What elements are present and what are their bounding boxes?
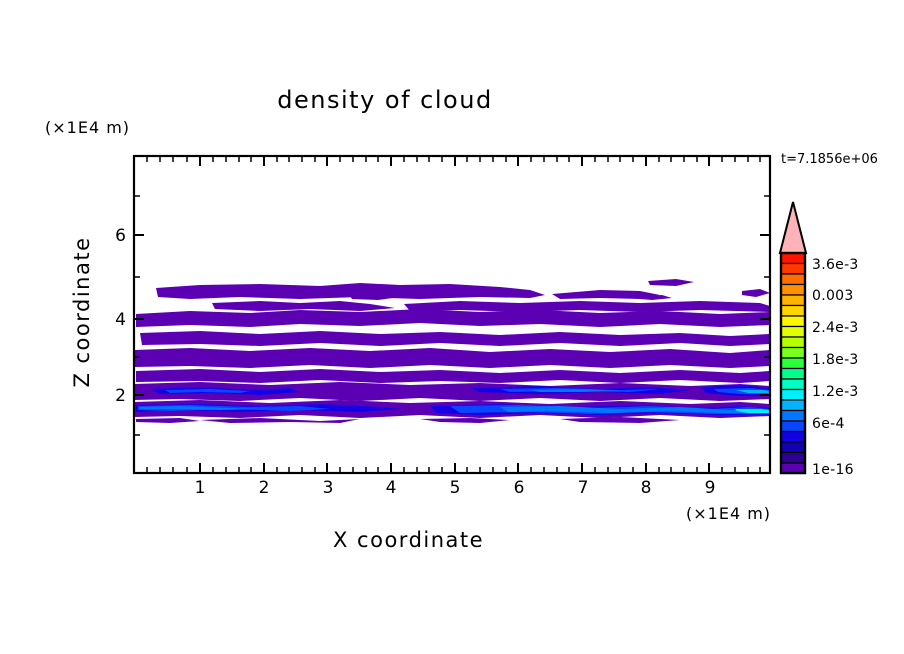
colorbar[interactable] (780, 202, 806, 474)
figure-canvas: density of cloud (×1E4 m) t=7.1856e+06 X… (0, 0, 904, 654)
colorbar-bands (781, 253, 805, 474)
colorbar-over-arrow (780, 202, 806, 253)
plot-svg (0, 0, 904, 654)
